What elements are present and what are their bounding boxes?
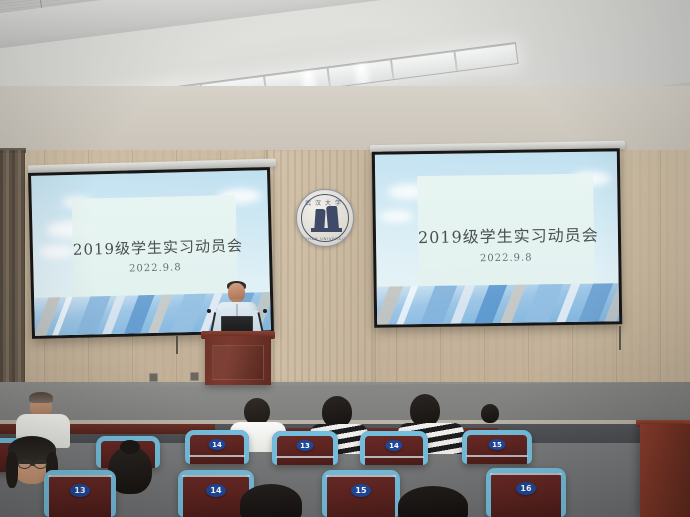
seat[interactable]: 14 [360,431,428,465]
seat-number-badge: 14 [386,440,403,451]
university-emblem: 武汉大学 WUHAN UNIVERSITY [296,189,354,247]
seat-desk-line [189,455,245,457]
emblem-bottom-characters: WUHAN UNIVERSITY [297,237,353,241]
seat-desk-line [364,456,424,458]
seat-desk-line [326,475,396,477]
slide-title: 2019级学生实习动员会 [418,222,594,248]
seat-number-badge: 14 [209,439,226,450]
screen-cord [619,326,621,350]
seat-number-badge: 15 [351,484,371,497]
audience-member-hair [29,392,53,403]
seat-desk-line [182,475,250,477]
seat[interactable]: 15 [322,470,400,517]
microphone-head-right [263,309,267,313]
seat[interactable]: 13 [272,431,338,465]
podium-front-panel [212,345,264,380]
seat-desk-line [466,455,528,457]
seat-number-badge: 13 [70,484,90,497]
emblem-top-characters: 武汉大学 [297,198,353,207]
seat[interactable]: 14 [185,430,249,464]
screen-cord [176,336,178,354]
seat-number-badge: 16 [516,482,536,495]
side-curtain [0,150,25,395]
emblem-base-bar [311,228,342,232]
eyeglasses-left-lens [18,460,31,469]
audience-member-hair-side [6,452,18,488]
wall-socket[interactable] [190,372,199,381]
seat[interactable]: 16 [486,468,566,517]
slide-date: 2022.9.8 [73,261,237,276]
center-wall-pillar [266,150,376,382]
audience-member-head [244,398,270,425]
emblem-glyph-left [314,209,325,229]
emblem-glyph-right [326,206,339,229]
right-projection-screen: 2019级学生实习动员会 2022.9.8 [372,148,622,327]
seat-desk-line [48,475,112,477]
side-cabinet[interactable] [640,424,690,517]
seat-number-badge: 13 [297,440,314,451]
seat[interactable]: 15 [462,430,532,464]
microphone-head-left [207,309,211,313]
slide-text-card: 2019级学生实习动员会 2022.9.8 [417,174,595,296]
audience-member-head-foreground [240,484,302,517]
slide-text-card: 2019级学生实习动员会 2022.9.8 [72,195,238,297]
eyeglasses-bridge [31,464,35,466]
eyeglasses-right-lens [34,460,47,469]
seat[interactable]: 13 [44,470,116,517]
wall-socket[interactable] [149,373,158,382]
slide-bottom-graphic [377,283,620,324]
seat-number-badge: 14 [206,484,226,497]
slide-title: 2019级学生实习动员会 [73,235,237,260]
slide-date: 2022.9.8 [418,252,594,265]
lecture-hall-photo: 武汉大学 WUHAN UNIVERSITY 2019级学生实习动员会 2022.… [0,0,690,517]
seat-desk-line [276,456,334,458]
audience-member-head [481,404,499,423]
seat-number-badge: 15 [489,439,506,450]
seat-desk-line [490,473,562,475]
audience-member-hair-bun [120,440,140,454]
